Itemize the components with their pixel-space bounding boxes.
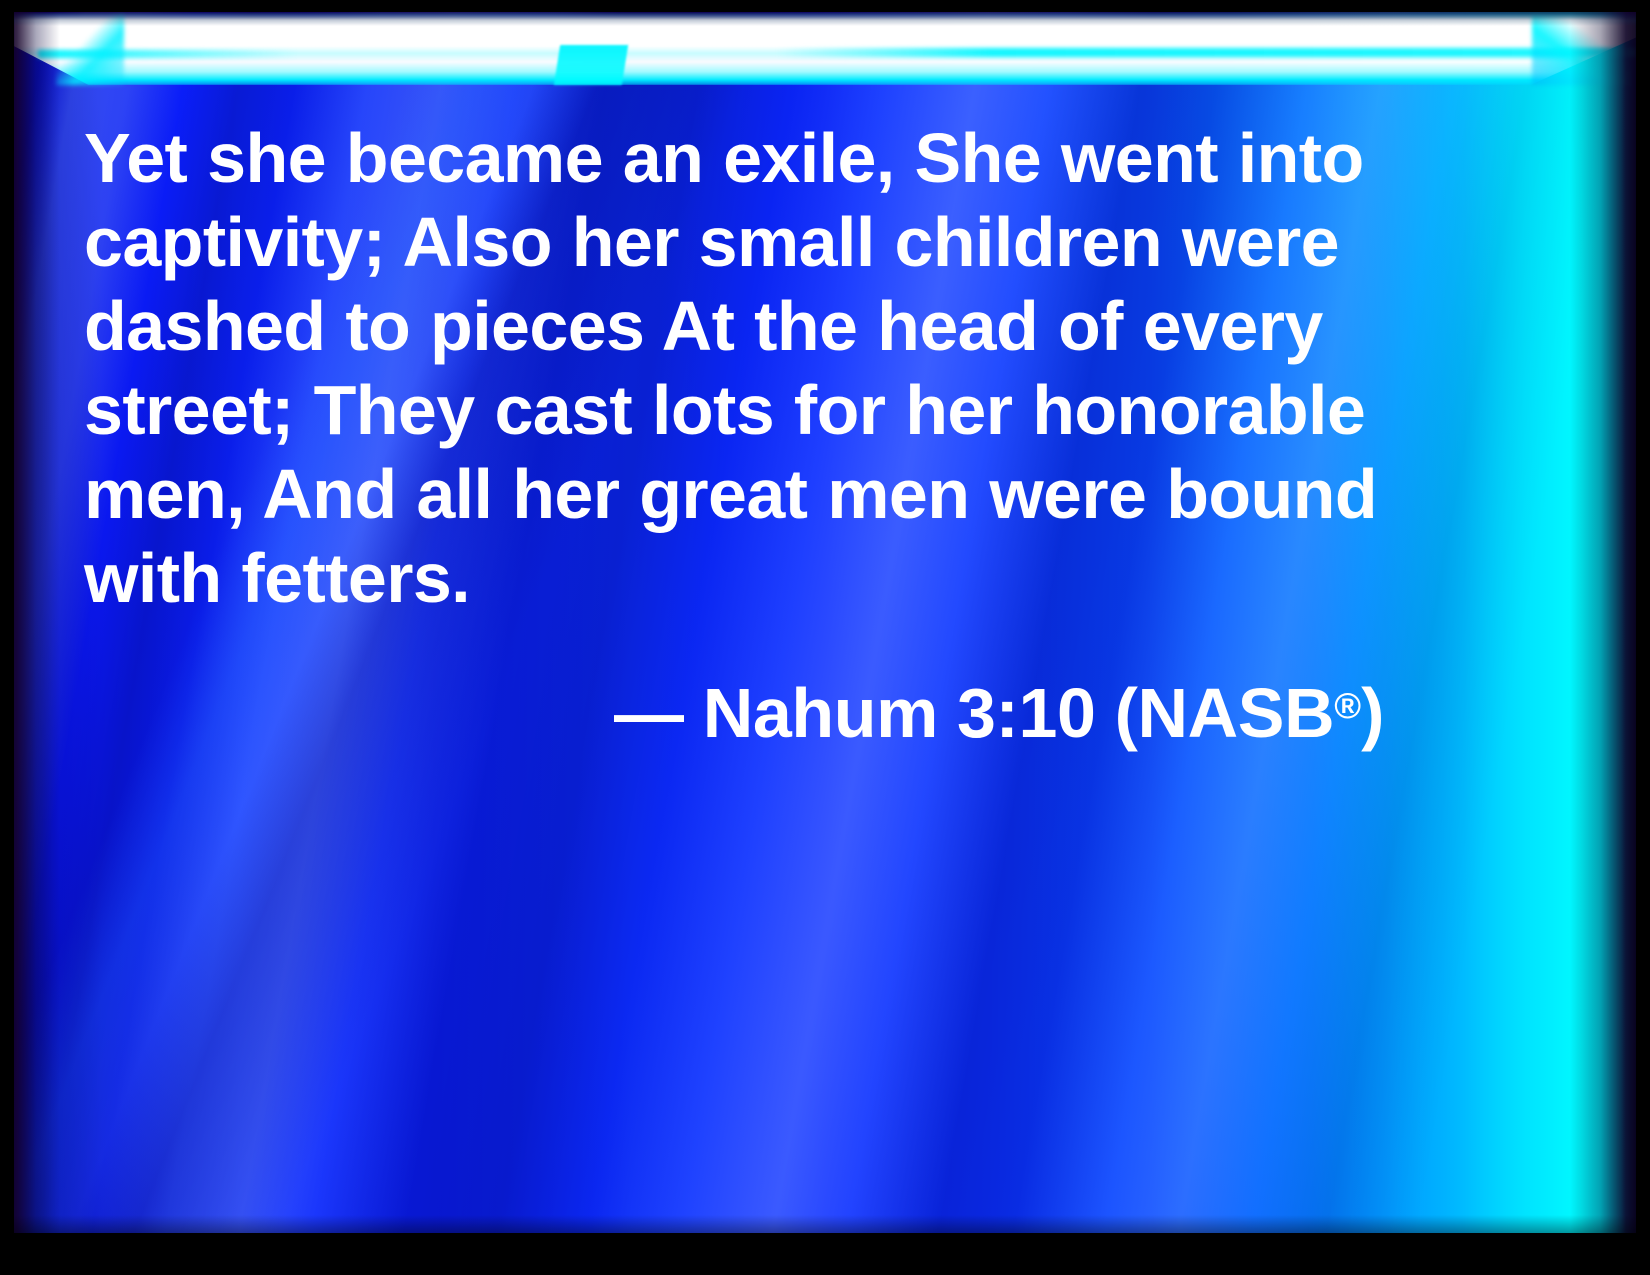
- top-bar-cyan-streak-right: [776, 48, 1636, 57]
- frame-border-bottom: [0, 1233, 1650, 1275]
- frame-border-left: [0, 0, 14, 1275]
- verse-text: Yet she became an exile, She went into c…: [84, 116, 1404, 620]
- attribution-dash: —: [614, 674, 684, 752]
- attribution-book: Nahum: [703, 674, 938, 752]
- verse-attribution: — Nahum 3:10 (NASB®): [84, 666, 1404, 753]
- verse-slide: Yet she became an exile, She went into c…: [0, 0, 1650, 1275]
- attribution-close-paren: ): [1361, 674, 1384, 752]
- verse-content: Yet she became an exile, She went into c…: [84, 116, 1404, 753]
- registered-trademark-icon: ®: [1334, 685, 1361, 726]
- attribution-reference: 3:10: [957, 674, 1096, 752]
- frame-border-top: [0, 0, 1650, 12]
- attribution-translation: NASB: [1138, 674, 1335, 752]
- frame-border-right: [1636, 0, 1650, 1275]
- top-bar-cyan-notch: [554, 45, 628, 85]
- attribution-open-paren: (: [1115, 674, 1138, 752]
